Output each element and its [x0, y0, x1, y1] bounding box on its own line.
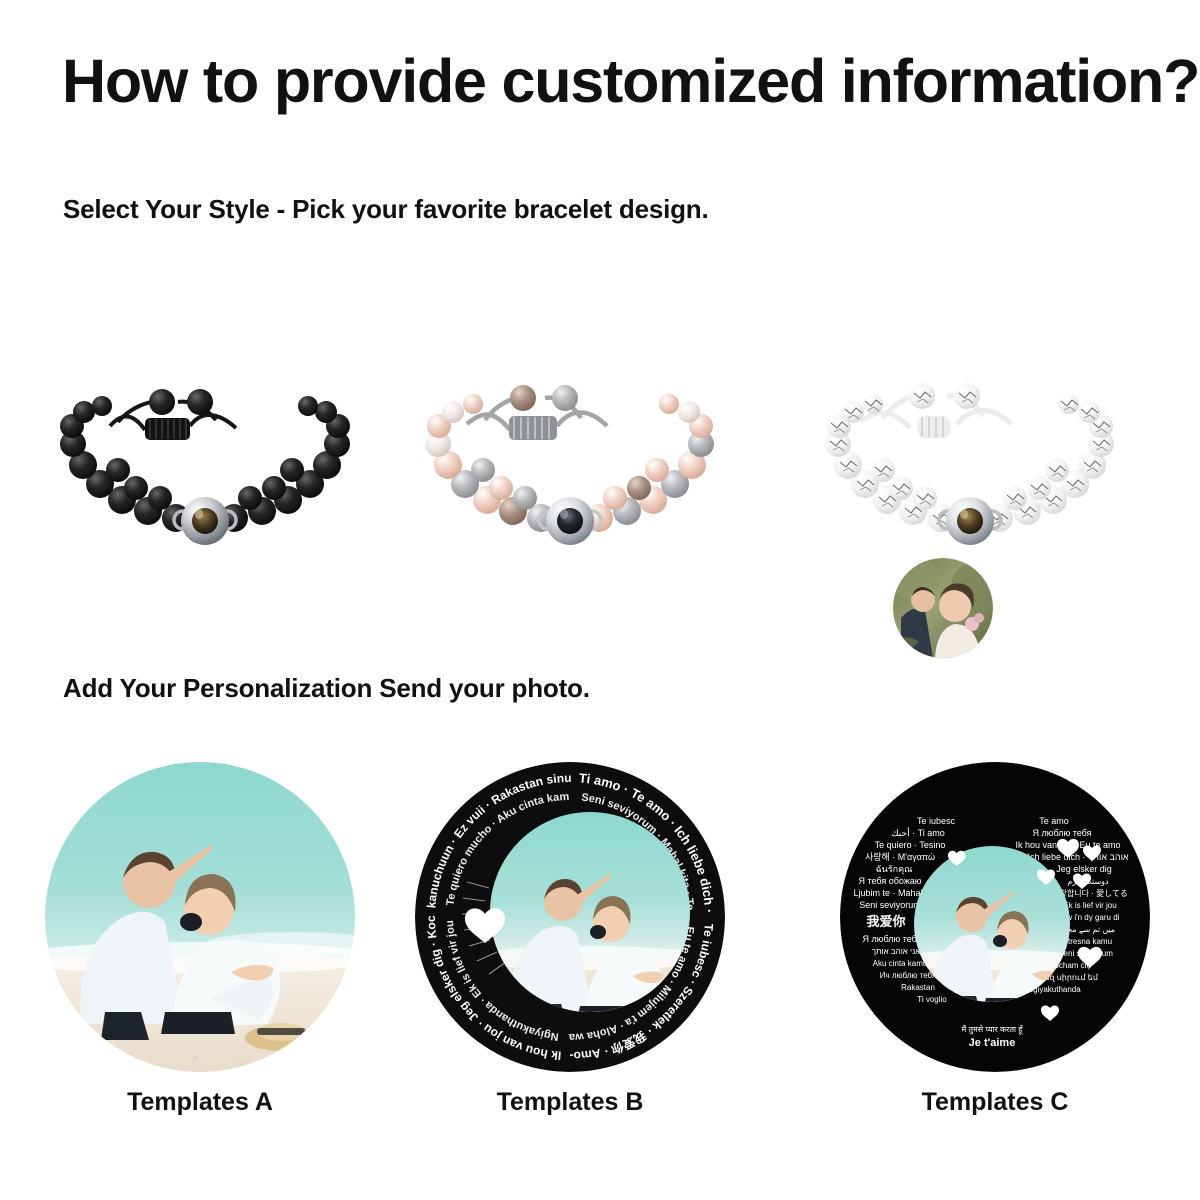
- template-option-c[interactable]: Te iubesc أحبك · Ti amo Te quiero · Tesi…: [840, 762, 1150, 1072]
- template-label-b: Templates B: [455, 1088, 685, 1117]
- step-heading-select-style: Select Your Style - Pick your favorite b…: [63, 194, 709, 225]
- svg-text:मैं तुमसे प्यार करता हूँ: मैं तुमसे प्यार करता हूँ: [961, 1024, 1023, 1035]
- svg-text:Ek is lief vir jou: Ek is lief vir jou: [1063, 901, 1116, 910]
- svg-text:Je t'aime: Je t'aime: [969, 1037, 1016, 1049]
- svg-text:Te quiero · Tesino: Te quiero · Tesino: [875, 840, 946, 850]
- step-heading-add-personalization: Add Your Personalization Send your photo…: [63, 673, 590, 704]
- svg-text:אני אוהב אותך: אני אוהב אותך: [872, 947, 921, 956]
- template-option-a[interactable]: [45, 762, 355, 1072]
- svg-text:Te iubesc: Te iubesc: [917, 816, 956, 826]
- bracelet-gallery: [0, 360, 1200, 560]
- svg-text:Rakastan: Rakastan: [901, 983, 935, 992]
- template-label-c: Templates C: [880, 1088, 1110, 1117]
- projection-charm: [546, 497, 594, 545]
- svg-text:Seni seviyorum: Seni seviyorum: [859, 900, 921, 910]
- bracelet-option-pink-gray-agate[interactable]: [405, 370, 735, 555]
- bracelet-option-white-howlite[interactable]: [805, 370, 1135, 555]
- infographic-page: How to provide customized information? S…: [0, 0, 1200, 1200]
- svg-text:Я люблю тебя: Я люблю тебя: [1032, 828, 1091, 838]
- svg-text:Я люблю тебя: Я люблю тебя: [862, 934, 921, 944]
- template-b-disc: Ti amo · Te amo · Ich liebe dich · Je t'…: [415, 762, 725, 1072]
- page-title: How to provide customized information?: [62, 48, 1199, 115]
- bracelet-option-black-onyx[interactable]: [40, 370, 370, 555]
- template-label-a: Templates A: [85, 1088, 315, 1117]
- svg-text:Ti voglio: Ti voglio: [917, 995, 947, 1004]
- projection-preview-photo: [893, 558, 993, 658]
- svg-text:Ich liebe dich · אוהב אותך: Ich liebe dich · אוהב אותך: [1027, 852, 1128, 862]
- svg-text:أحبك · Ti amo: أحبك · Ti amo: [891, 826, 945, 838]
- template-c-disc: Te iubesc أحبك · Ti amo Te quiero · Tesi…: [840, 762, 1150, 1072]
- projection-charm: [946, 497, 994, 545]
- svg-text:Ljubim te · Mahal: Ljubim te · Mahal: [853, 888, 922, 898]
- template-gallery: Ti amo · Te amo · Ich liebe dich · Je t'…: [0, 762, 1200, 1082]
- svg-text:我爱你: 我爱你: [866, 914, 905, 929]
- template-option-b[interactable]: Ti amo · Te amo · Ich liebe dich · Je t'…: [415, 762, 725, 1072]
- svg-text:Я тебя обожаю: Я тебя обожаю: [858, 876, 921, 886]
- svg-text:Te amo: Te amo: [1039, 816, 1069, 826]
- template-a-disc: [45, 762, 355, 1072]
- svg-text:ฉันรักคุณ: ฉันรักคุณ: [876, 864, 913, 875]
- svg-text:Jeg elsker dig: Jeg elsker dig: [1056, 864, 1112, 874]
- svg-text:Ич люблю тебя: Ич люблю тебя: [880, 971, 937, 980]
- svg-text:사랑해 · Μ'αγαπώ: 사랑해 · Μ'αγαπώ: [865, 851, 935, 862]
- svg-text:Aku cinta kamu: Aku cinta kamu: [873, 959, 928, 968]
- projection-charm: [181, 497, 229, 545]
